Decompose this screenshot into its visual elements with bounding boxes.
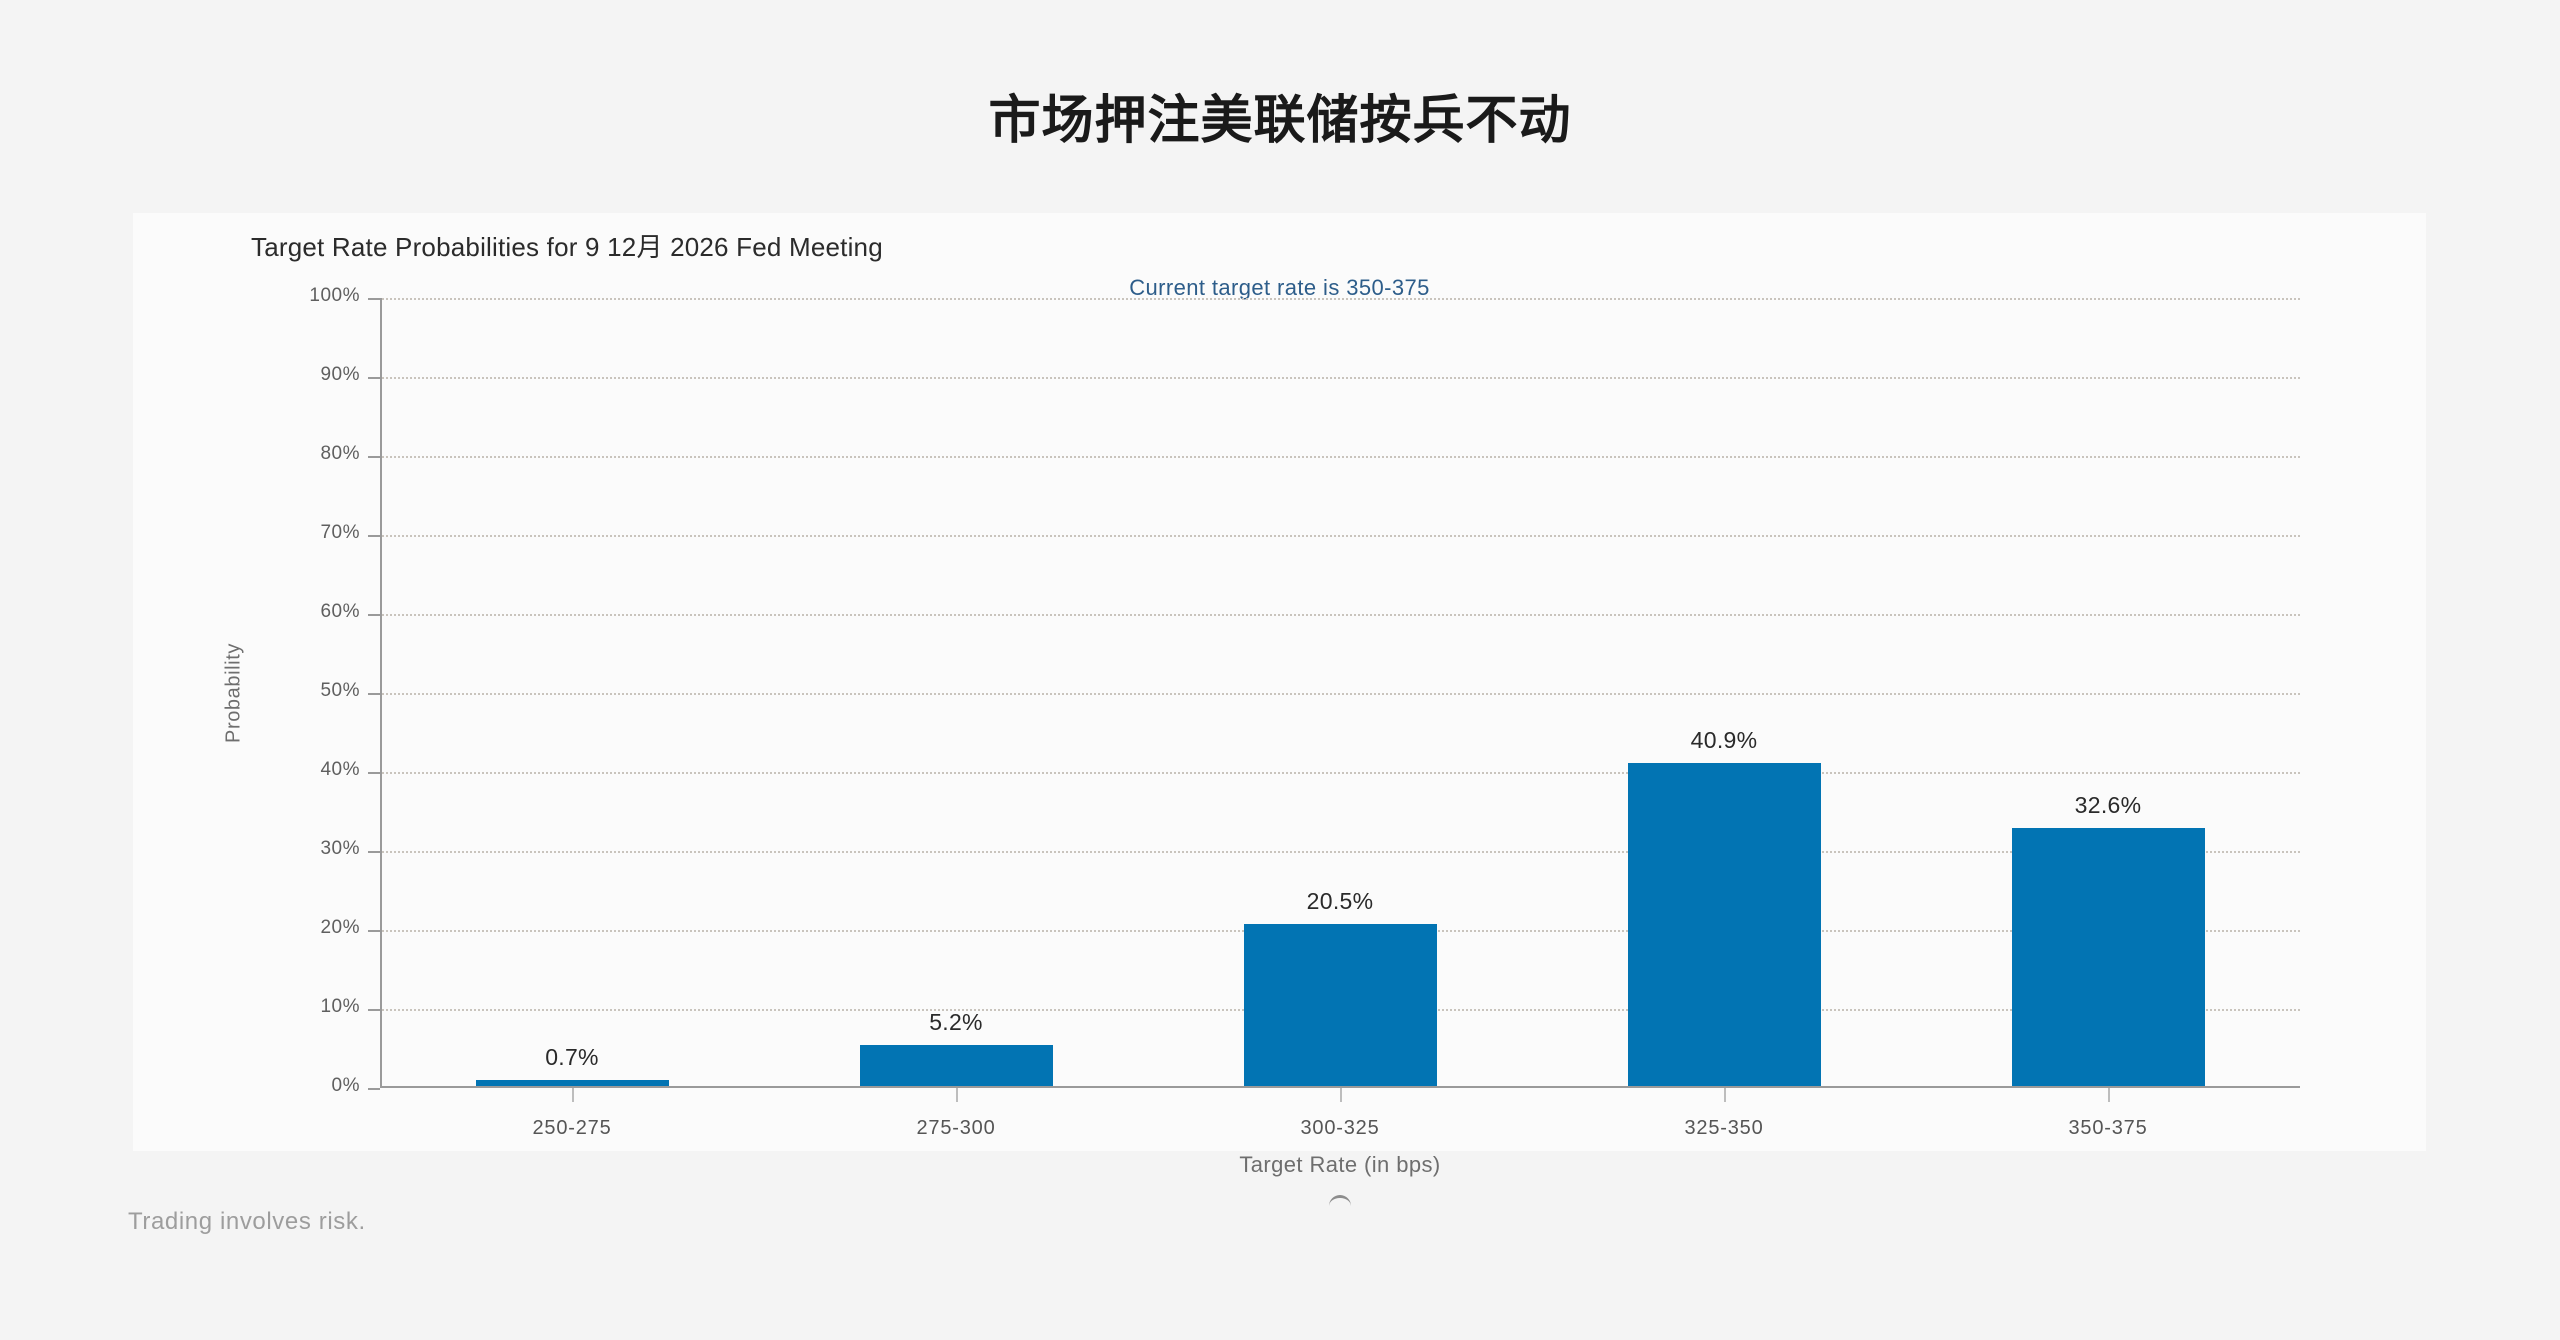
y-tick-label: 100%: [250, 285, 360, 307]
x-tick-mark: [1340, 1088, 1342, 1102]
bar-value-label: 40.9%: [1624, 727, 1824, 754]
page-title: 市场押注美联储按兵不动: [0, 90, 2560, 152]
x-axis-title: Target Rate (in bps): [380, 1152, 2300, 1178]
chart-title: Target Rate Probabilities for 9 12月 2026…: [251, 227, 883, 264]
y-tick-label: 40%: [250, 759, 360, 781]
chart-card: Target Rate Probabilities for 9 12月 2026…: [133, 213, 2426, 1151]
gridline: [382, 614, 2300, 616]
y-tick-mark: [368, 772, 380, 774]
x-tick-mark: [2108, 1088, 2110, 1102]
slide-canvas: 市场押注美联储按兵不动 Target Rate Probabilities fo…: [0, 0, 2560, 1340]
y-tick-label: 0%: [250, 1075, 360, 1097]
y-tick-mark: [368, 456, 380, 458]
bar[interactable]: [1244, 924, 1437, 1086]
bar-value-label: 0.7%: [472, 1044, 672, 1071]
y-tick-mark: [368, 535, 380, 537]
x-tick-label: 275-300: [846, 1117, 1066, 1140]
gridline: [382, 298, 2300, 300]
scroll-indicator-icon: [1329, 1195, 1351, 1206]
y-tick-label: 20%: [250, 917, 360, 939]
x-tick-mark: [572, 1088, 574, 1102]
x-tick-mark: [956, 1088, 958, 1102]
bar[interactable]: [2012, 828, 2205, 1086]
x-tick-label: 300-325: [1230, 1117, 1450, 1140]
y-tick-mark: [368, 930, 380, 932]
y-tick-label: 80%: [250, 443, 360, 465]
gridline: [382, 693, 2300, 695]
bar-value-label: 5.2%: [856, 1009, 1056, 1036]
x-tick-mark: [1724, 1088, 1726, 1102]
bar[interactable]: [860, 1045, 1053, 1086]
bar-value-label: 20.5%: [1240, 888, 1440, 915]
y-tick-mark: [368, 298, 380, 300]
gridline: [382, 377, 2300, 379]
x-tick-label: 250-275: [462, 1117, 682, 1140]
x-tick-label: 350-375: [1998, 1117, 2218, 1140]
y-tick-label: 30%: [250, 838, 360, 860]
y-tick-mark: [368, 1088, 380, 1090]
y-tick-mark: [368, 693, 380, 695]
gridline: [382, 535, 2300, 537]
bar-value-label: 32.6%: [2008, 792, 2208, 819]
y-tick-label: 60%: [250, 601, 360, 623]
y-tick-mark: [368, 1009, 380, 1011]
y-tick-label: 70%: [250, 522, 360, 544]
gridline: [382, 456, 2300, 458]
y-tick-label: 50%: [250, 680, 360, 702]
y-tick-mark: [368, 377, 380, 379]
y-tick-label: 10%: [250, 996, 360, 1018]
plot-area: Probability 0%10%20%30%40%50%60%70%80%90…: [380, 298, 2300, 1088]
y-tick-mark: [368, 614, 380, 616]
gridline: [382, 772, 2300, 774]
bar[interactable]: [1628, 763, 1821, 1086]
x-tick-label: 325-350: [1614, 1117, 1834, 1140]
y-tick-label: 90%: [250, 364, 360, 386]
bar[interactable]: [476, 1080, 669, 1086]
y-axis-title: Probability: [222, 643, 245, 743]
disclaimer-text: Trading involves risk.: [128, 1208, 366, 1236]
y-tick-mark: [368, 851, 380, 853]
